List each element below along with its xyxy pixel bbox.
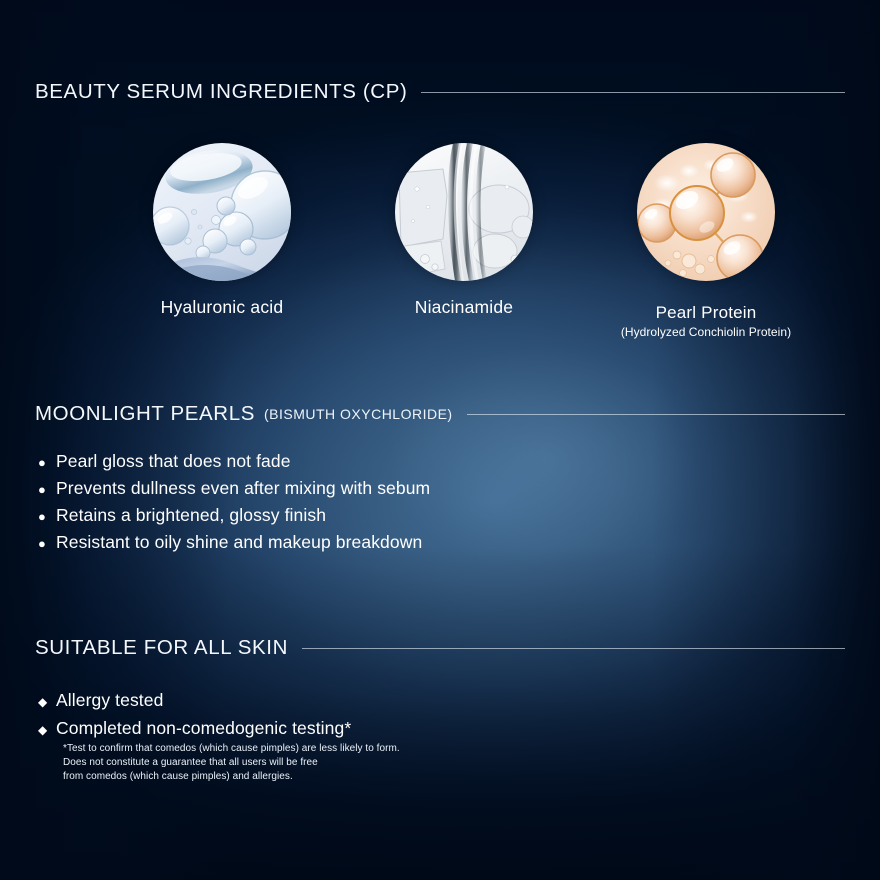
section-header-skin: SUITABLE FOR ALL SKIN: [35, 636, 845, 660]
ingredient-list: Hyaluronic acid: [35, 143, 845, 343]
hyaluronic-acid-bubbles-icon: [153, 143, 291, 281]
section-rule: [467, 414, 845, 415]
bullet-dot-icon: ●: [38, 483, 56, 496]
footnote-line: *Test to confirm that comedos (which cau…: [63, 742, 400, 756]
ingredient-label: Pearl Protein: [606, 303, 806, 323]
ingredient-sublabel: (Hydrolyzed Conchiolin Protein): [606, 325, 806, 339]
list-item: ● Retains a brightened, glossy finish: [35, 505, 430, 532]
section-subtitle-pearls: (BISMUTH OXYCHLORIDE): [264, 406, 453, 423]
section-rule: [421, 92, 845, 93]
section-header-pearls: MOONLIGHT PEARLS (BISMUTH OXYCHLORIDE): [35, 402, 845, 426]
list-item-label: Completed non-comedogenic testing*: [56, 718, 351, 739]
list-item-label: Allergy tested: [56, 690, 163, 711]
section-title-ingredients: BEAUTY SERUM INGREDIENTS (CP): [35, 80, 407, 104]
footnote: *Test to confirm that comedos (which cau…: [63, 742, 400, 785]
section-header-ingredients: BEAUTY SERUM INGREDIENTS (CP): [35, 80, 845, 104]
footnote-line: Does not constitute a guarantee that all…: [63, 756, 400, 770]
section-title-pearls: MOONLIGHT PEARLS: [35, 402, 255, 426]
pearls-bullet-list: ● Pearl gloss that does not fade ● Preve…: [35, 451, 430, 559]
bullet-dot-icon: ●: [38, 510, 56, 523]
ingredient-label: Niacinamide: [364, 297, 564, 317]
bullet-dot-icon: ●: [38, 456, 56, 469]
niacinamide-image: [395, 143, 533, 281]
product-info-panel: BEAUTY SERUM INGREDIENTS (CP): [0, 0, 880, 880]
pearl-protein-image: [637, 143, 775, 281]
list-item: ● Resistant to oily shine and makeup bre…: [35, 532, 430, 559]
ingredient-item: Pearl Protein (Hydrolyzed Conchiolin Pro…: [606, 143, 806, 339]
niacinamide-gel-icon: [395, 143, 533, 281]
list-item-label: Pearl gloss that does not fade: [56, 451, 291, 472]
hyaluronic-acid-image: [153, 143, 291, 281]
list-item: ● Prevents dullness even after mixing wi…: [35, 478, 430, 505]
bullet-diamond-icon: ◆: [38, 724, 56, 736]
ingredient-item: Hyaluronic acid: [122, 143, 322, 317]
list-item: ◆ Allergy tested: [35, 690, 351, 718]
list-item-label: Retains a brightened, glossy finish: [56, 505, 326, 526]
bullet-dot-icon: ●: [38, 537, 56, 550]
list-item-label: Prevents dullness even after mixing with…: [56, 478, 430, 499]
list-item: ● Pearl gloss that does not fade: [35, 451, 430, 478]
list-item-label: Resistant to oily shine and makeup break…: [56, 532, 422, 553]
section-title-skin: SUITABLE FOR ALL SKIN: [35, 636, 288, 660]
footnote-line: from comedos (which cause pimples) and a…: [63, 770, 400, 784]
ingredient-item: Niacinamide: [364, 143, 564, 317]
section-rule: [302, 648, 845, 649]
pearl-protein-molecule-icon: [637, 143, 775, 281]
bullet-diamond-icon: ◆: [38, 696, 56, 708]
skin-bullet-list: ◆ Allergy tested ◆ Completed non-comedog…: [35, 690, 351, 746]
ingredient-label: Hyaluronic acid: [122, 297, 322, 317]
